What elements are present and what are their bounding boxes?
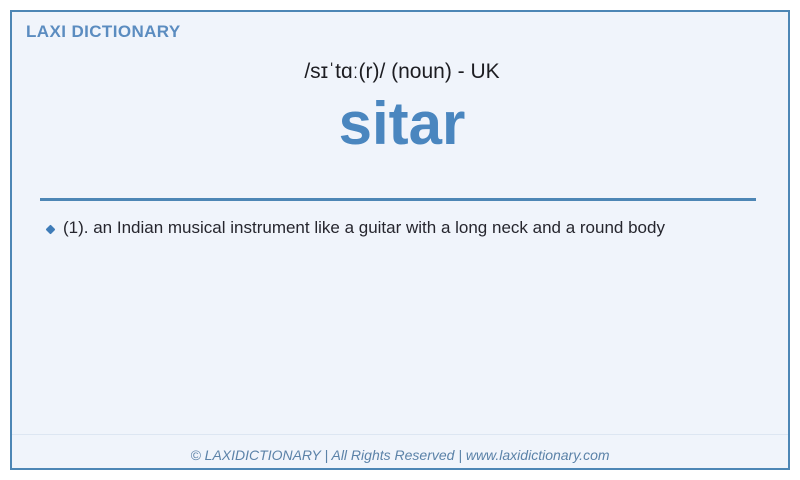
footer-copyright: © LAXIDICTIONARY | All Rights Reserved |… (12, 447, 788, 463)
definition-text: (1). an Indian musical instrument like a… (63, 218, 665, 237)
list-item: (1). an Indian musical instrument like a… (40, 215, 756, 241)
section-divider (40, 198, 756, 201)
dictionary-card: LAXI DICTIONARY /sɪˈtɑː(r)/ (noun) - UK … (10, 10, 790, 470)
phonetic-transcription: /sɪˈtɑː(r)/ (noun) - UK (12, 60, 790, 84)
footer-divider (12, 434, 788, 435)
diamond-bullet-icon (46, 225, 56, 235)
definition-list: (1). an Indian musical instrument like a… (40, 215, 756, 251)
brand-logo-text: LAXI DICTIONARY (26, 22, 181, 42)
page-title: sitar (12, 92, 790, 155)
